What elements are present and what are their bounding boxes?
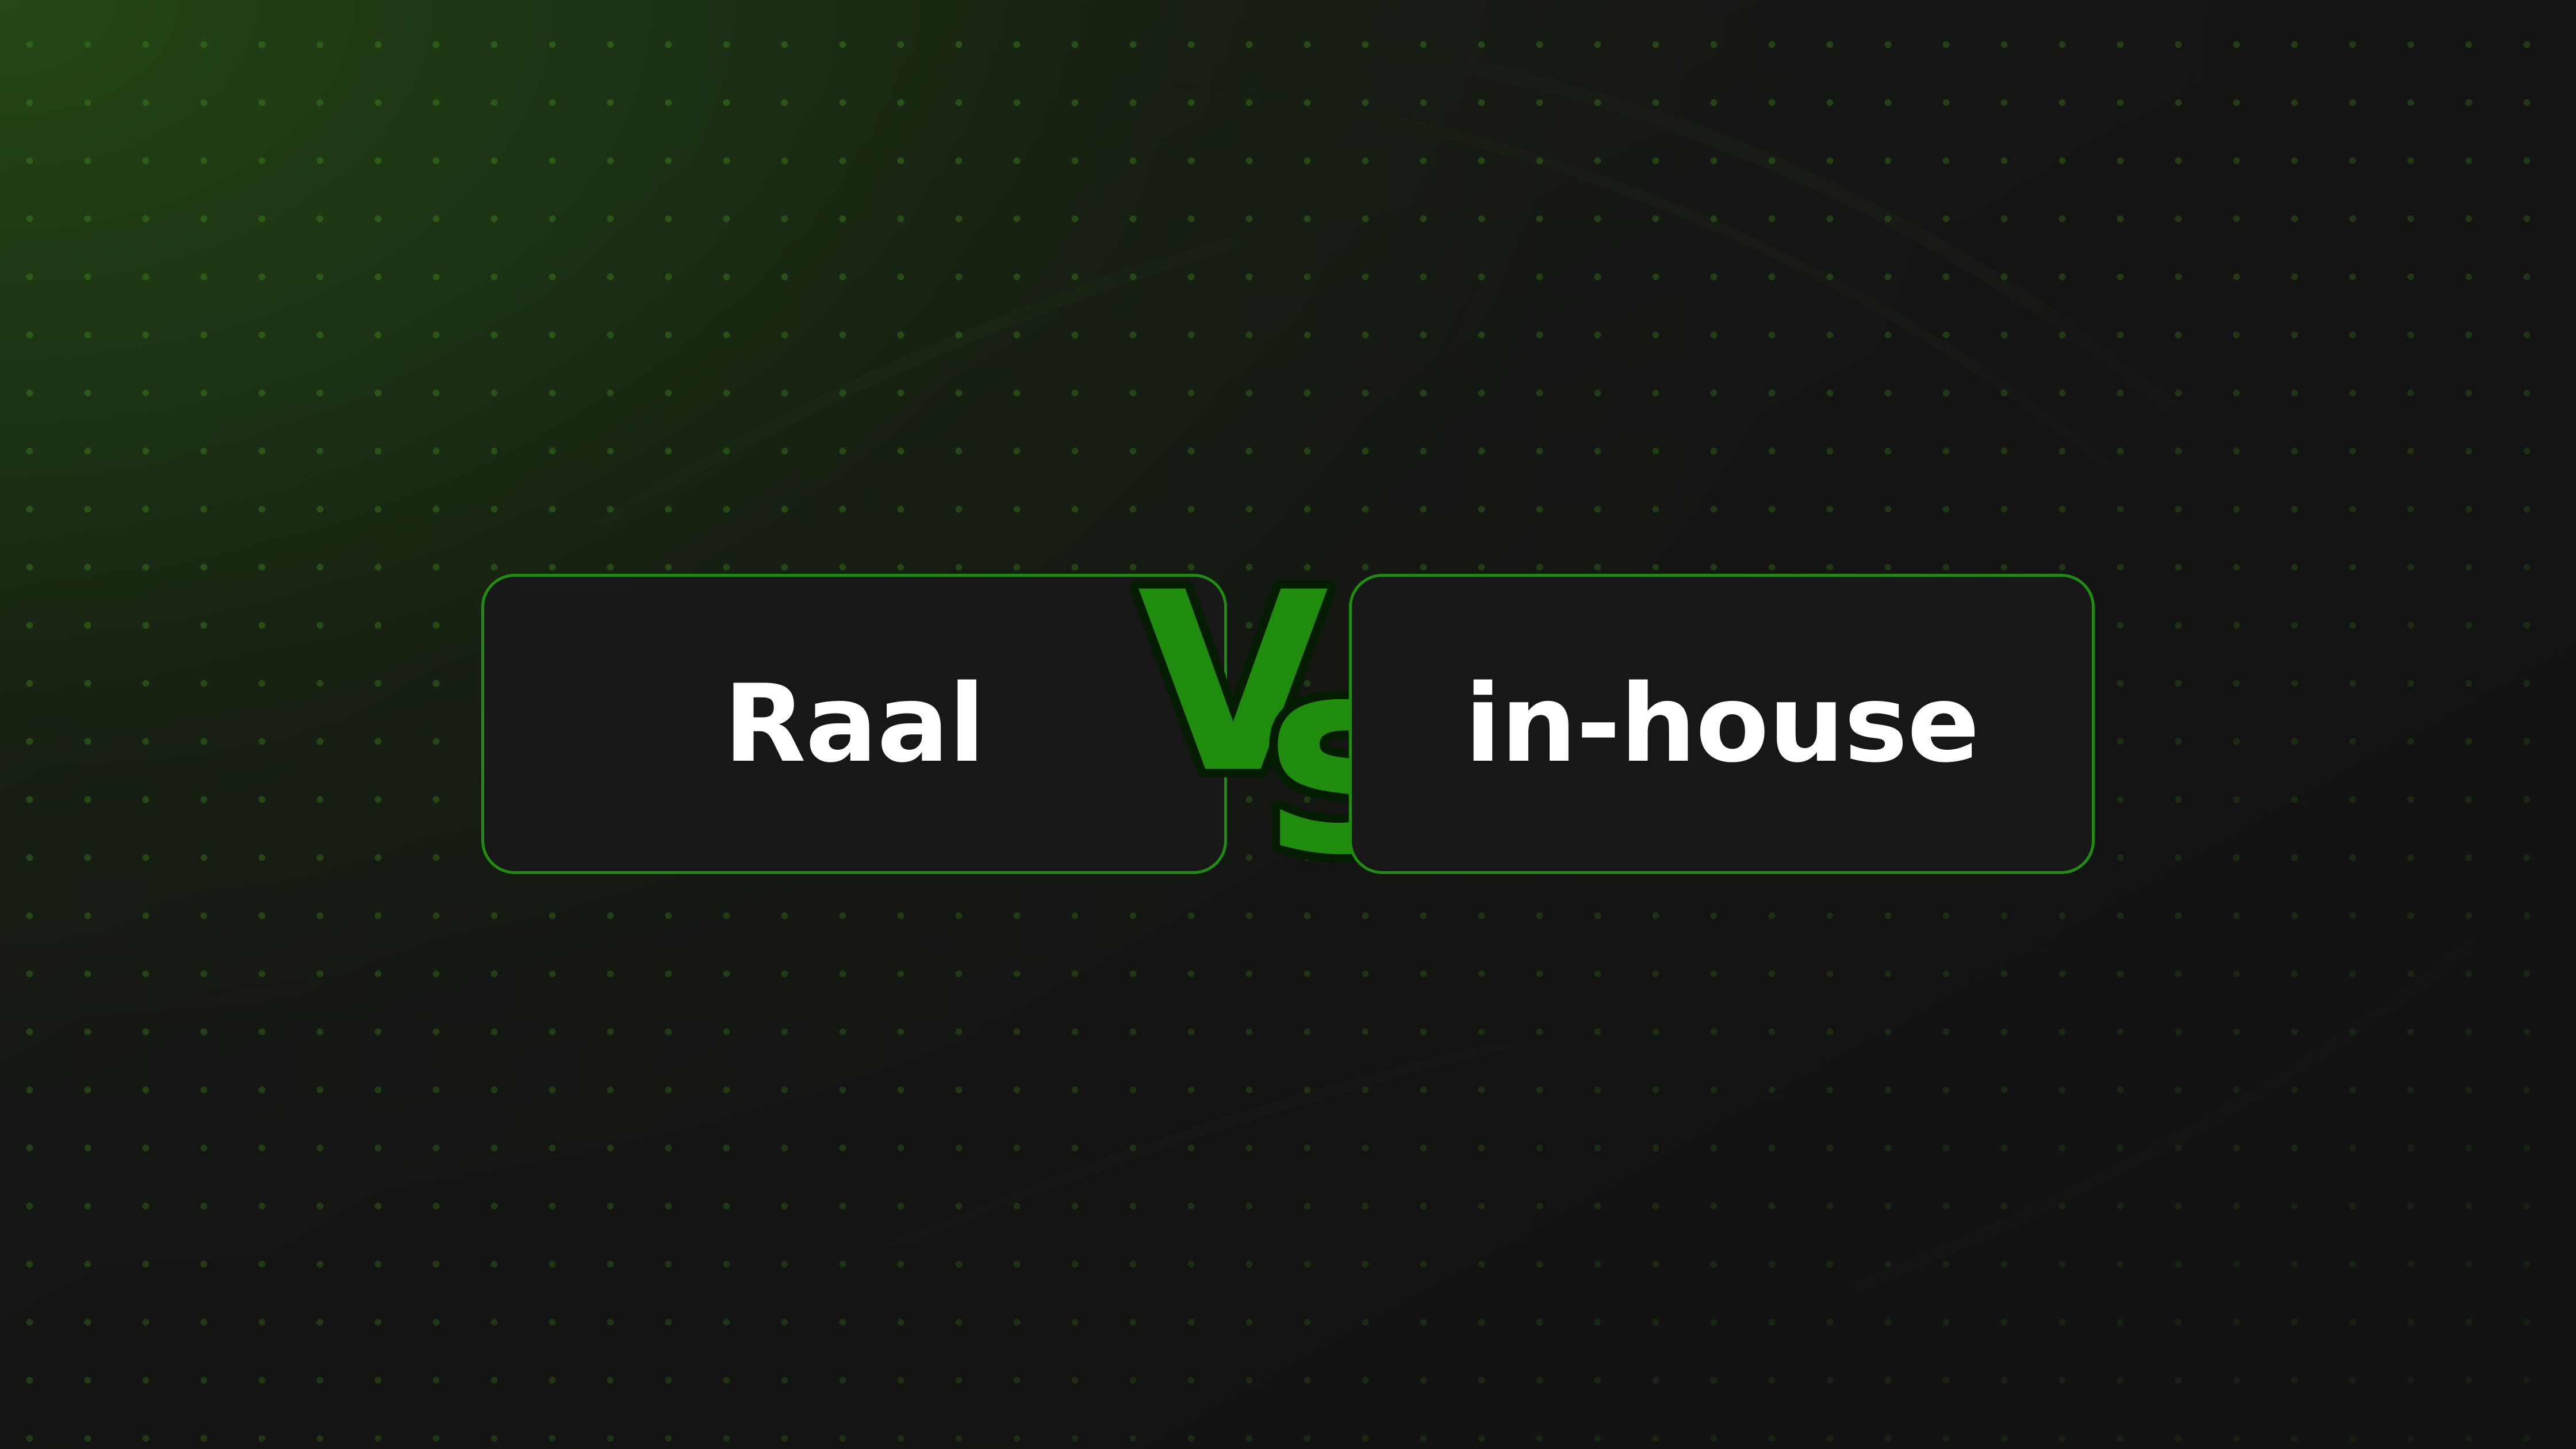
- versus-separator: V s: [1227, 574, 1349, 874]
- right-card-label: in-house: [1465, 670, 1979, 777]
- comparison-row: Raal V s in-house: [0, 574, 2576, 874]
- left-card-label: Raal: [723, 670, 984, 777]
- right-comparison-card[interactable]: in-house: [1349, 574, 2095, 874]
- slide-canvas: Raal V s in-house: [0, 0, 2576, 1449]
- left-comparison-card[interactable]: Raal: [481, 574, 1227, 874]
